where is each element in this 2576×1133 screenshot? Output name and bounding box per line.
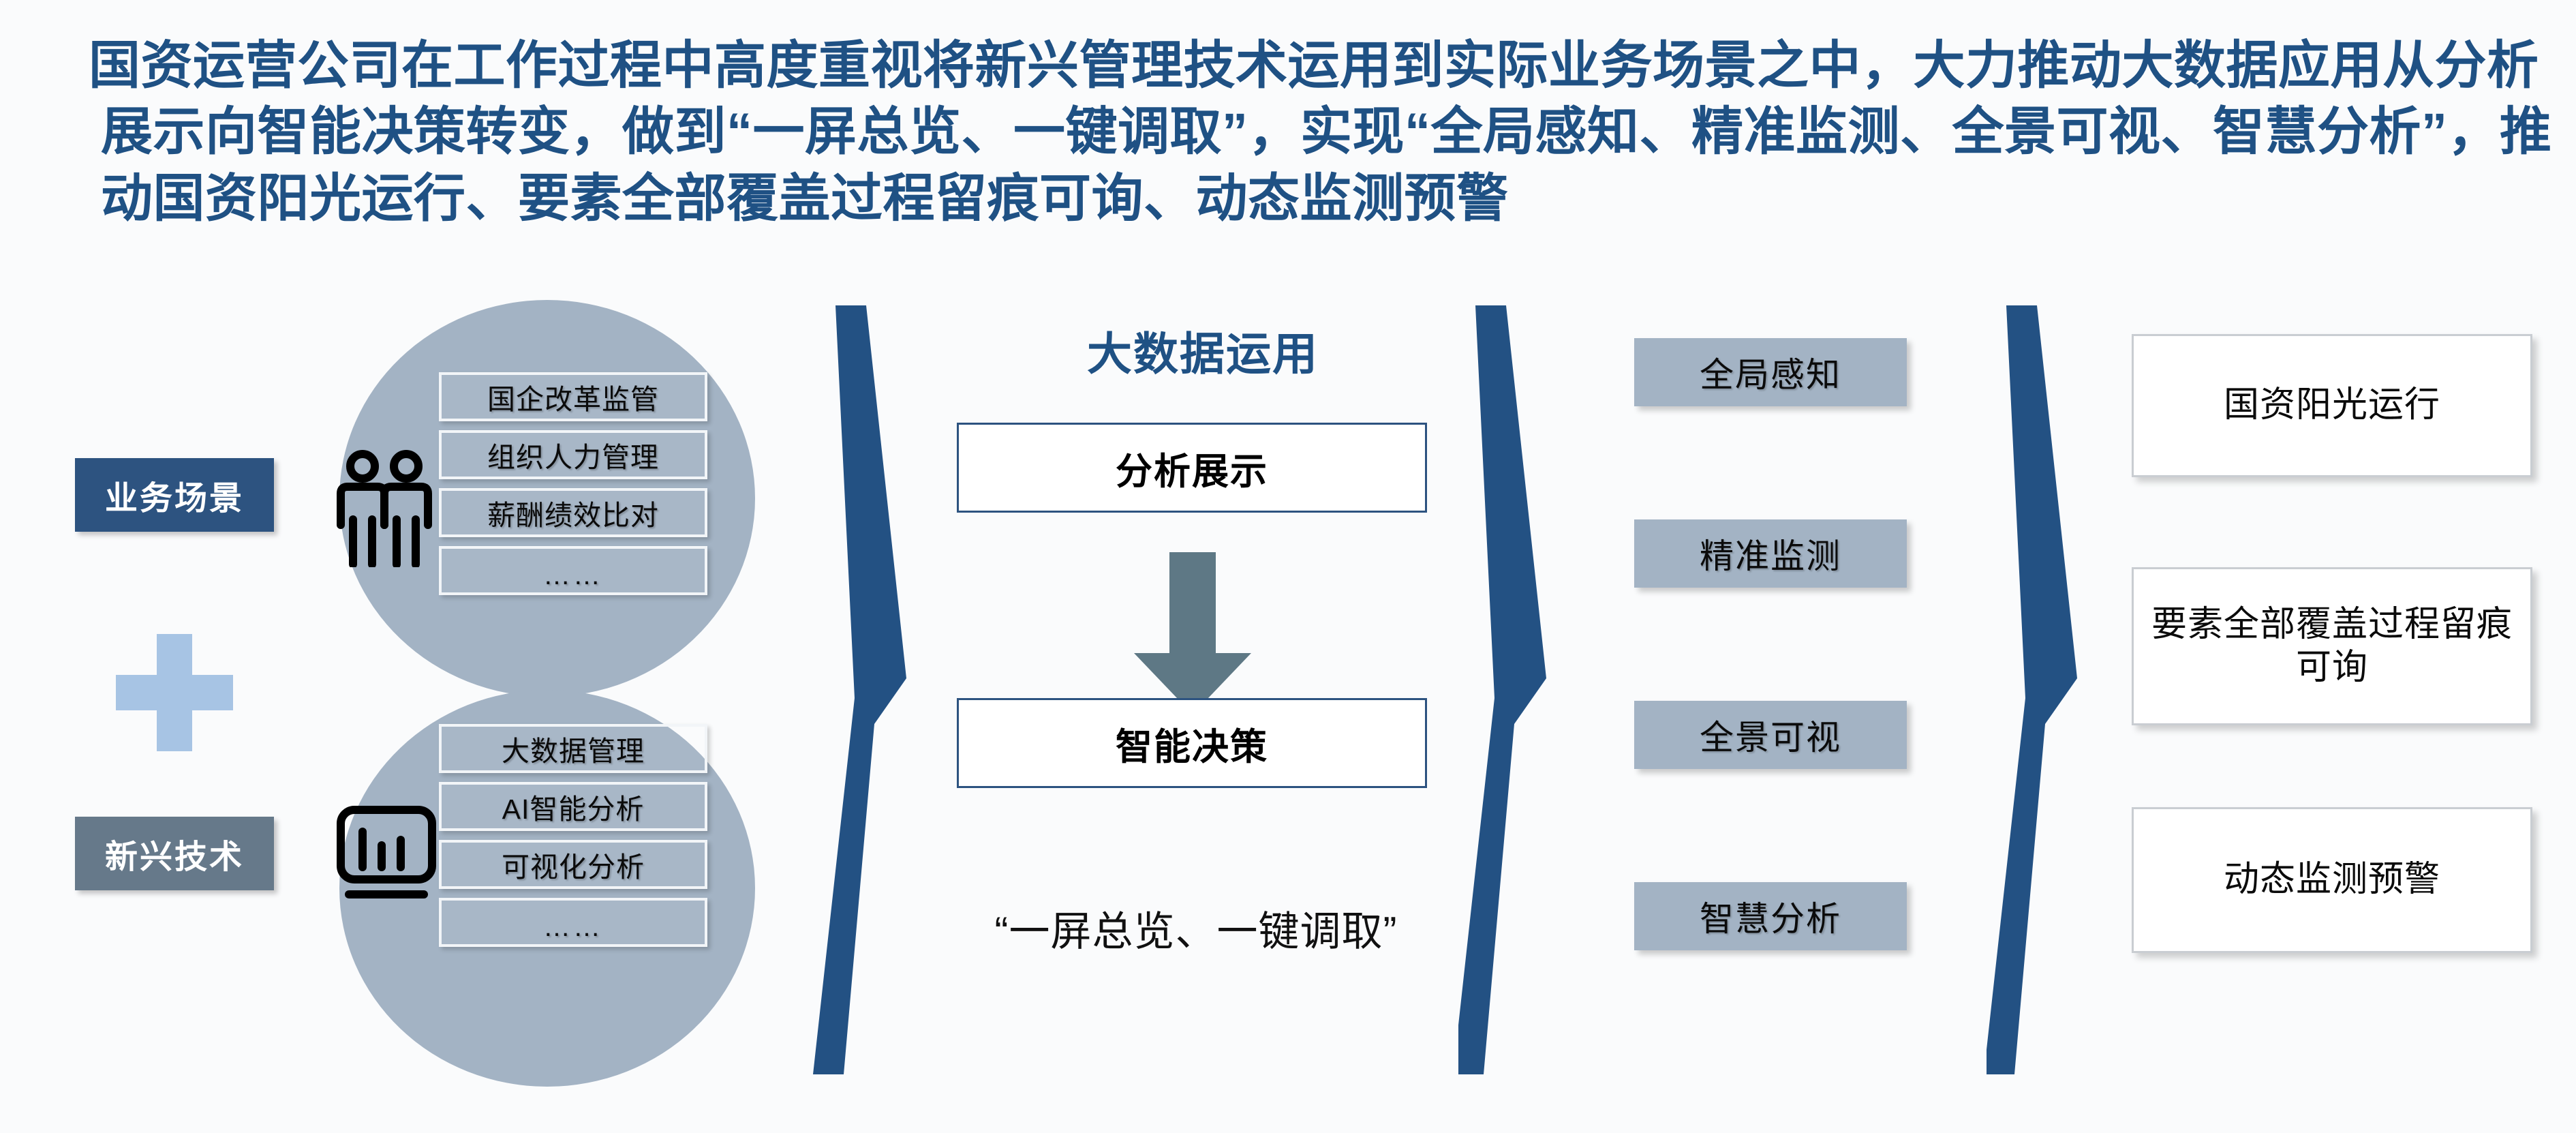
label-business-scenario[interactable]: 业务场景 [75, 458, 274, 532]
capability-bar-3-label: 智慧分析 [1700, 892, 1841, 941]
header-line-2: 展示向智能决策转变，做到“一屏总览、一键调取”，实现“全局感知、精准监测、全景可… [89, 99, 2453, 165]
label-emerging-technology[interactable]: 新兴技术 [75, 817, 274, 890]
list-item[interactable]: 可视化分析 [439, 840, 707, 889]
list-item-ellipsis[interactable]: …… [439, 546, 707, 595]
list-item[interactable]: 组织人力管理 [439, 430, 707, 479]
smart-decision-box[interactable]: 智能决策 [957, 698, 1427, 788]
list-item[interactable]: 国企改革监管 [439, 372, 707, 421]
business-scenario-item-list: 国企改革监管 组织人力管理 薪酬绩效比对 …… [439, 372, 707, 595]
smart-decision-label: 智能决策 [1116, 716, 1268, 770]
list-item-ellipsis[interactable]: …… [439, 898, 707, 947]
list-item[interactable]: 大数据管理 [439, 724, 707, 773]
outcome-box-2-label: 动态监测预警 [2210, 858, 2454, 901]
outcome-box-0-label: 国资阳光运行 [2210, 384, 2454, 427]
capability-bar-1[interactable]: 精准监测 [1634, 519, 1907, 588]
header-line-1: 国资运营公司在工作过程中高度重视将新兴管理技术运用到实际业务场景之中，大力推动大… [89, 33, 2453, 99]
header-line-3: 动国资阳光运行、要素全部覆盖过程留痕可询、动态监测预警 [89, 166, 2453, 232]
outcome-box-1-label: 要素全部覆盖过程留痕可询 [2134, 603, 2530, 690]
capability-bar-3[interactable]: 智慧分析 [1634, 882, 1907, 950]
outcome-box-1[interactable]: 要素全部覆盖过程留痕可询 [2132, 567, 2532, 725]
list-item[interactable]: AI智能分析 [439, 782, 707, 831]
center-section-title: 大数据运用 [985, 318, 1421, 383]
list-item[interactable]: 薪酬绩效比对 [439, 488, 707, 537]
chevron-right-icon [804, 293, 913, 1084]
outcome-box-0[interactable]: 国资阳光运行 [2132, 334, 2532, 477]
capability-bar-2-label: 全景可视 [1700, 710, 1841, 759]
page-title: 国资运营公司在工作过程中高度重视将新兴管理技术运用到实际业务场景之中，大力推动大… [89, 33, 2453, 232]
slide-canvas: 国资运营公司在工作过程中高度重视将新兴管理技术运用到实际业务场景之中，大力推动大… [0, 0, 2576, 1133]
analysis-display-box[interactable]: 分析展示 [957, 423, 1427, 513]
chevron-right-icon [1987, 293, 2096, 1084]
capability-bar-0[interactable]: 全局感知 [1634, 338, 1907, 406]
label-emerging-technology-text: 新兴技术 [105, 830, 244, 877]
center-section-caption: “一屏总览、一键调取” [913, 898, 1479, 958]
label-business-scenario-text: 业务场景 [105, 471, 244, 519]
capability-bar-0-label: 全局感知 [1700, 348, 1841, 397]
people-icon [335, 450, 438, 567]
capability-bar-1-label: 精准监测 [1700, 529, 1841, 578]
chevron-right-icon [1458, 293, 1567, 1084]
outcome-box-2[interactable]: 动态监测预警 [2132, 807, 2532, 953]
plus-icon [116, 634, 233, 751]
down-arrow-icon [1131, 552, 1254, 716]
emerging-technology-item-list: 大数据管理 AI智能分析 可视化分析 …… [439, 724, 707, 947]
analysis-display-label: 分析展示 [1116, 441, 1268, 495]
plus-icon-vertical-bar [157, 634, 192, 751]
capability-bar-2[interactable]: 全景可视 [1634, 701, 1907, 769]
bar-chart-icon [335, 802, 438, 904]
